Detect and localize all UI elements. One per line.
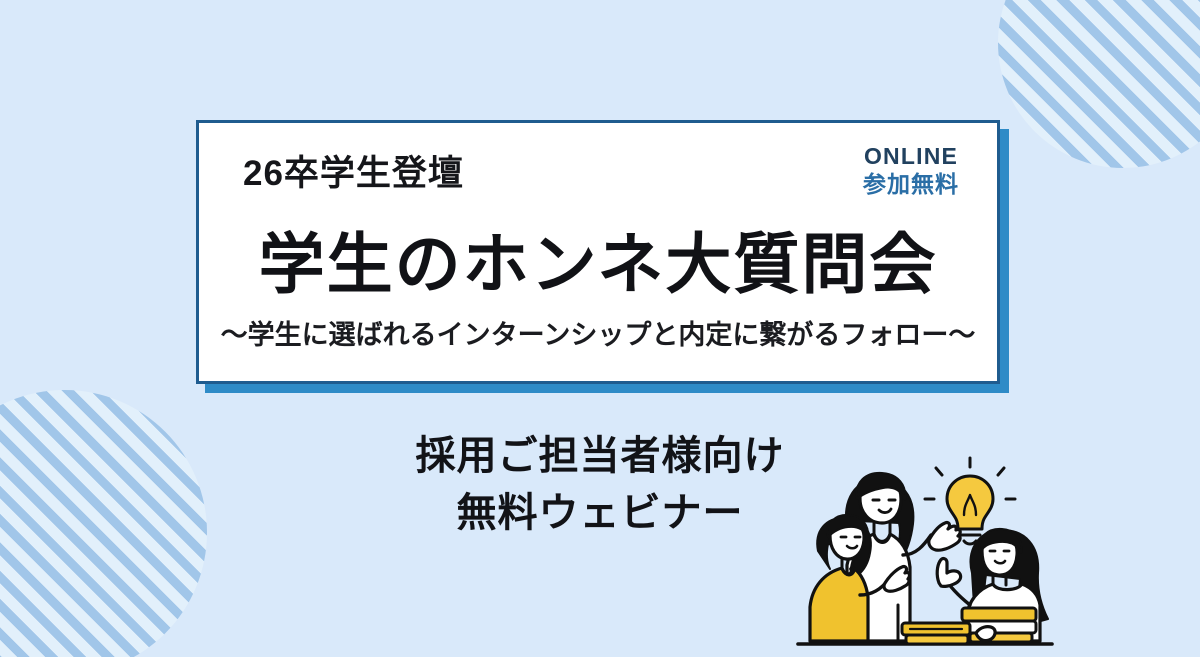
online-free-badge: ONLINE 参加無料 xyxy=(863,143,959,198)
three-students-with-lightbulb-icon xyxy=(790,455,1070,657)
webinar-banner: 26卒学生登壇 ONLINE 参加無料 学生のホンネ大質問会 ～学生に選ばれるイ… xyxy=(0,0,1200,657)
badge-online-label: ONLINE xyxy=(863,143,959,169)
page-title: 学生のホンネ大質問会 xyxy=(199,211,997,307)
headline-card: 26卒学生登壇 ONLINE 参加無料 学生のホンネ大質問会 ～学生に選ばれるイ… xyxy=(196,120,1000,384)
badge-free-label: 参加無料 xyxy=(863,171,959,197)
striped-circle-top-right xyxy=(998,0,1200,168)
eyebrow-text: 26卒学生登壇 xyxy=(243,145,464,196)
page-subtitle: ～学生に選ばれるインターンシップと内定に繋がるフォロー～ xyxy=(199,313,997,352)
